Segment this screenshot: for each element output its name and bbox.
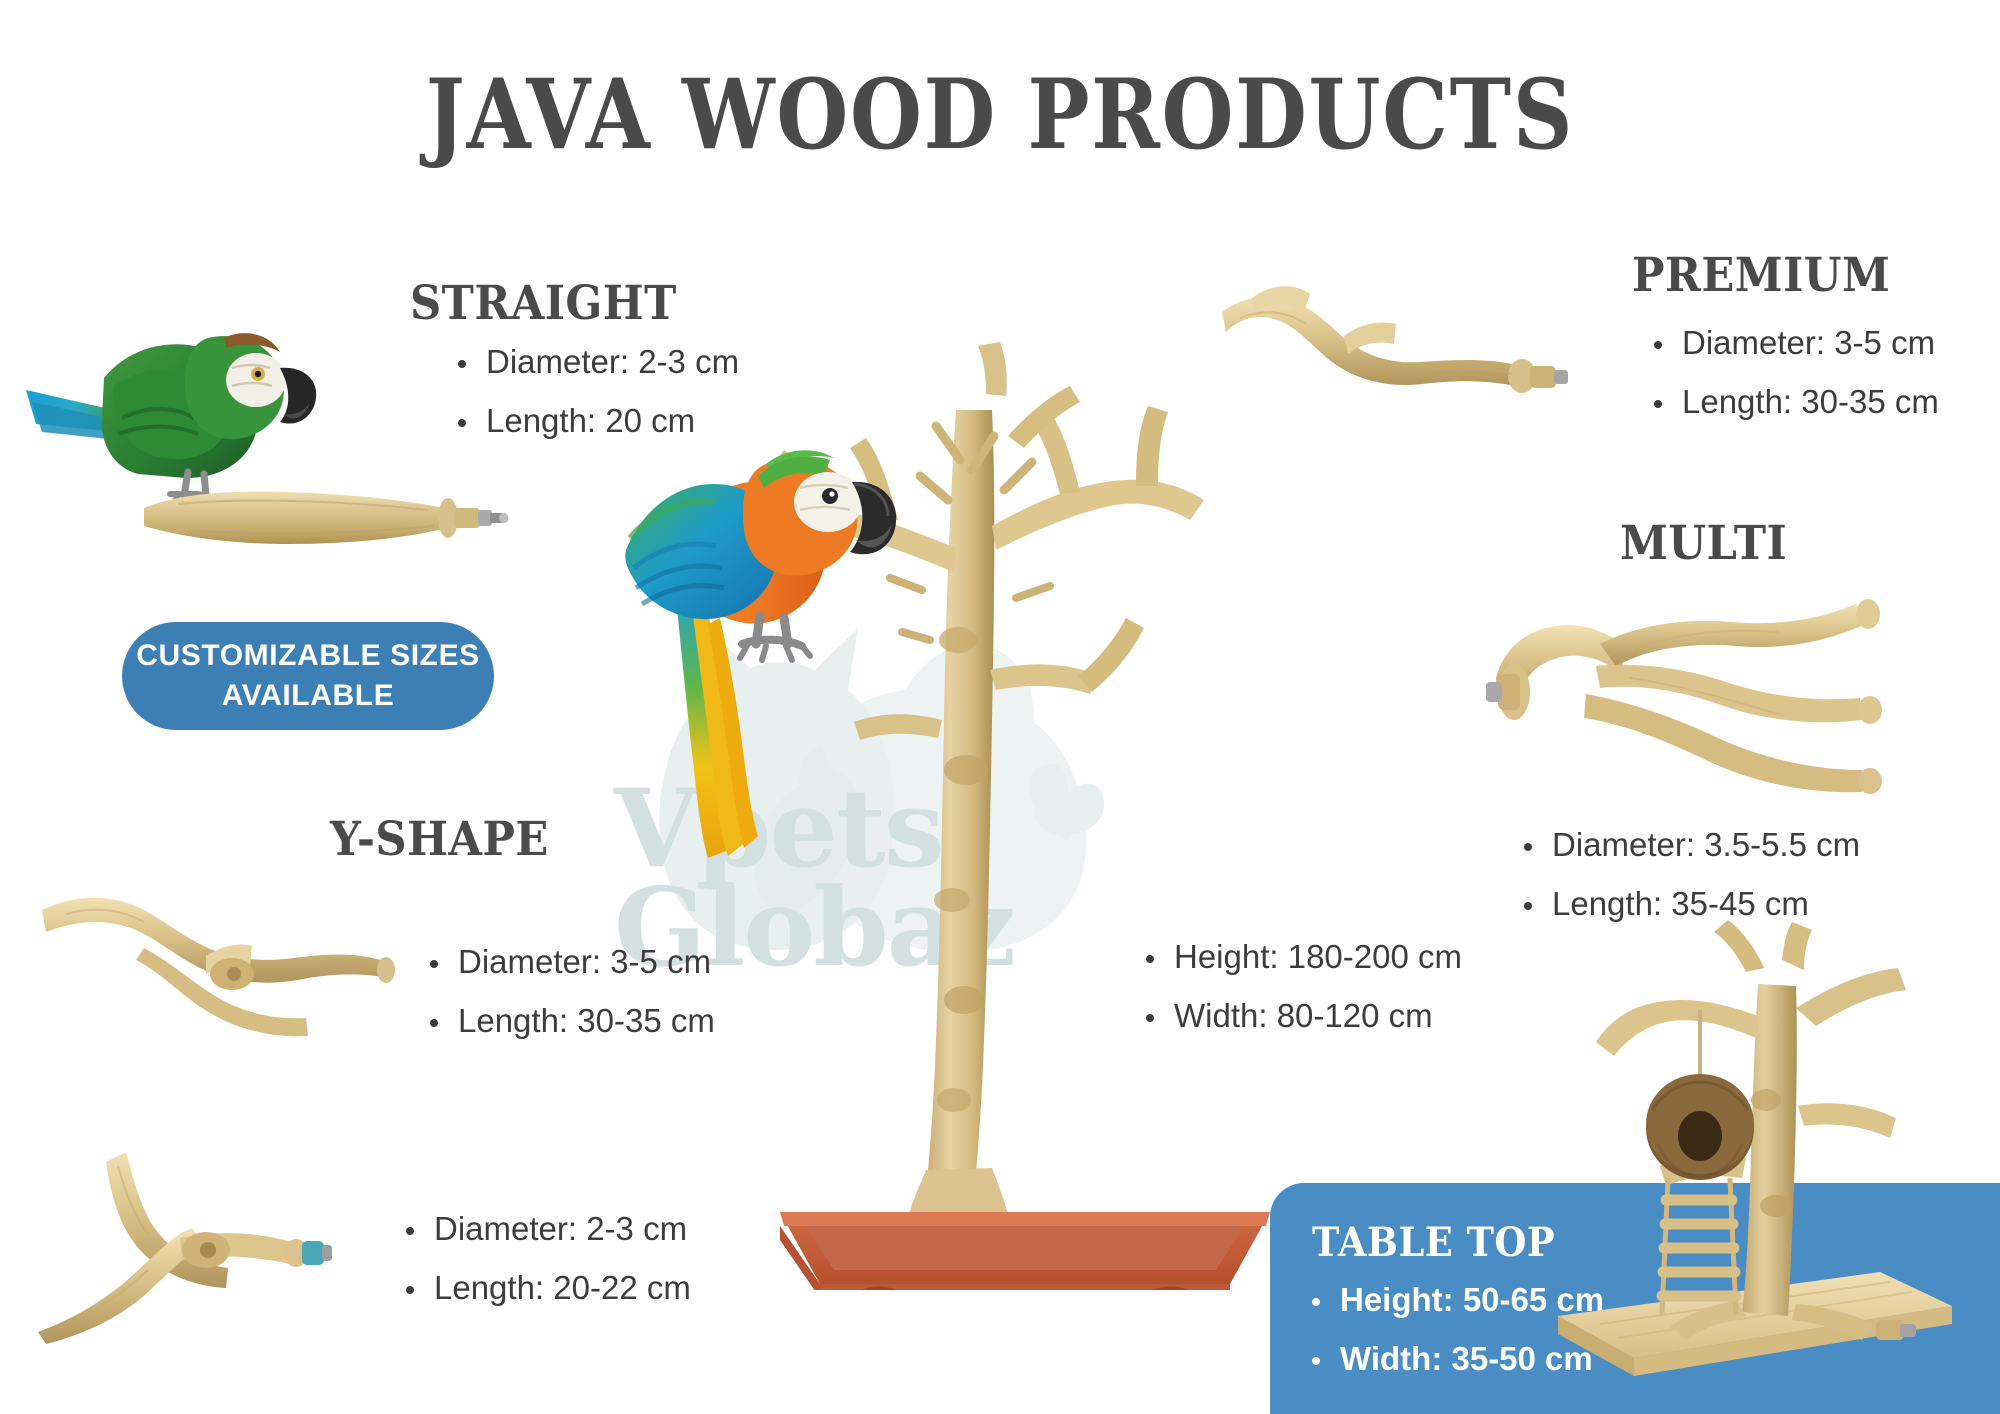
spec-item: Diameter: 3-5 cm xyxy=(1648,326,1939,359)
specs-y-shape-bottom: Diameter: 2-3 cm Length: 20-22 cm xyxy=(400,1212,691,1330)
spec-item: Length: 30-35 cm xyxy=(424,1004,715,1037)
y-shape-perch-lower-image xyxy=(30,1146,380,1346)
spec-item: Diameter: 2-3 cm xyxy=(452,345,739,378)
table-top-stand-image xyxy=(1540,920,1960,1414)
page-title: JAVA WOOD PRODUCTS xyxy=(140,58,1860,171)
heading-multi: MULTI xyxy=(1620,516,1787,571)
heading-y-shape: Y-SHAPE xyxy=(330,812,549,867)
heading-straight: STRAIGHT xyxy=(410,276,677,331)
infographic-page: JAVA WOOD PRODUCTS Vpets Globaz STRAIGHT… xyxy=(0,0,2000,1414)
customizable-sizes-badge[interactable]: CUSTOMIZABLE SIZES AVAILABLE xyxy=(122,622,494,730)
spec-item: Length: 20-22 cm xyxy=(400,1271,691,1304)
spec-item: Diameter: 2-3 cm xyxy=(400,1212,691,1245)
spec-item: Diameter: 3-5 cm xyxy=(424,945,715,978)
heading-premium: PREMIUM xyxy=(1632,248,1890,303)
straight-perch-image xyxy=(138,478,508,558)
specs-premium: Diameter: 3-5 cm Length: 30-35 cm xyxy=(1648,326,1939,444)
spec-item: Length: 35-45 cm xyxy=(1518,887,1860,920)
specs-y-shape-top: Diameter: 3-5 cm Length: 30-35 cm xyxy=(424,945,715,1063)
badge-line-2: AVAILABLE xyxy=(222,679,395,713)
heading-table-top: TABLE TOP xyxy=(1312,1219,1555,1266)
badge-line-1: CUSTOMIZABLE SIZES xyxy=(136,639,480,673)
blue-gold-macaw-image xyxy=(580,398,910,878)
multi-perch-image xyxy=(1480,570,2000,800)
spec-item: Length: 30-35 cm xyxy=(1648,385,1939,418)
y-shape-perch-upper-image xyxy=(36,870,426,1050)
spec-item: Diameter: 3.5-5.5 cm xyxy=(1518,828,1860,861)
